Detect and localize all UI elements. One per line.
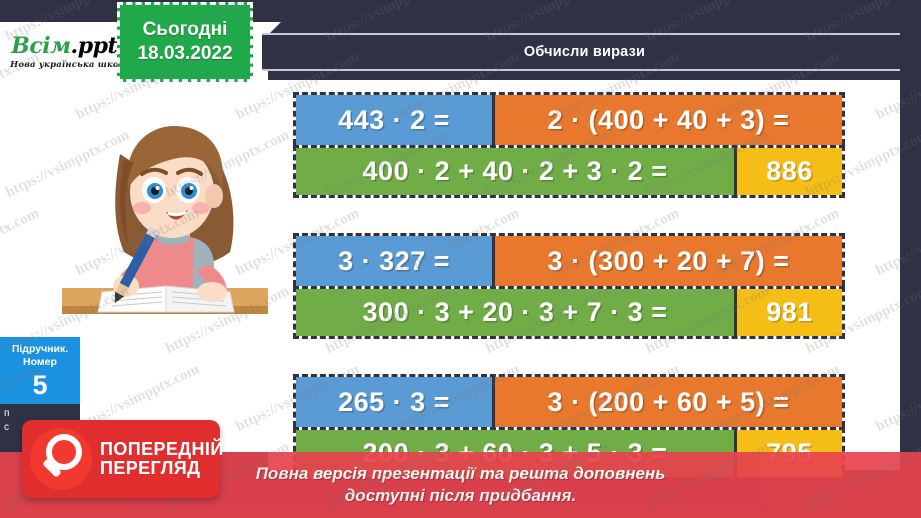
equation-result: 981	[737, 289, 842, 336]
textbook-label-line1: Підручник.	[0, 343, 80, 356]
equation-expanded-expression: 3 · (200 + 60 + 5) =	[495, 377, 842, 427]
equation-result: 886	[737, 148, 842, 195]
logo-subtitle: Нова українська школа	[10, 60, 131, 70]
equation-left-expression: 3 · 327 =	[296, 236, 492, 286]
today-date-badge: Сьогодні 18.03.2022	[117, 2, 253, 82]
equation-expanded-expression: 2 · (400 + 40 + 3) =	[495, 95, 842, 145]
banner-line-2: доступні після придбання.	[345, 485, 576, 507]
equation-row-top: 443 · 2 = 2 · (400 + 40 + 3) =	[293, 92, 845, 145]
equation-row-top: 265 · 3 = 3 · (200 + 60 + 5) =	[293, 374, 845, 427]
brand-logo: Всім.pptx Нова українська школа	[8, 28, 133, 76]
girl-writing-illustration	[62, 96, 282, 321]
right-edge-strip	[900, 0, 921, 518]
preview-line-1: ПОПЕРЕДНІЙ	[100, 440, 224, 459]
today-date: 18.03.2022	[137, 44, 232, 64]
slide-canvas: Всім.pptx Нова українська школа Сьогодні…	[0, 0, 921, 518]
textbook-number-value: 5	[0, 371, 80, 401]
slide-header-bar: Обчисли вирази	[262, 33, 907, 71]
equation-group-2: 3 · 327 = 3 · (300 + 20 + 7) = 300 · 3 +…	[293, 233, 845, 339]
equation-row-bottom: 400 · 2 + 40 · 2 + 3 · 2 = 886	[293, 145, 845, 198]
girl-writing-icon	[62, 96, 282, 321]
magnifier-icon	[30, 428, 92, 490]
equation-sum-expression: 400 · 2 + 40 · 2 + 3 · 2 =	[296, 148, 734, 195]
logo-title-prefix: Всім	[11, 33, 70, 59]
preview-badge: ПОПЕРЕДНІЙ ПЕРЕГЛЯД	[22, 420, 220, 498]
equation-left-expression: 265 · 3 =	[296, 377, 492, 427]
textbook-label-line2: Номер	[0, 356, 80, 369]
equation-group-1: 443 · 2 = 2 · (400 + 40 + 3) = 400 · 2 +…	[293, 92, 845, 198]
equation-expanded-expression: 3 · (300 + 20 + 7) =	[495, 236, 842, 286]
equation-row-top: 3 · 327 = 3 · (300 + 20 + 7) =	[293, 233, 845, 286]
preview-line-2: ПЕРЕГЛЯД	[100, 459, 224, 478]
equation-sum-expression: 300 · 3 + 20 · 3 + 7 · 3 =	[296, 289, 734, 336]
banner-line-1: Повна версія презентації та решта доповн…	[256, 463, 666, 485]
logo-title: Всім.pptx	[11, 35, 129, 57]
note-line-1: п	[4, 407, 76, 421]
equation-left-expression: 443 · 2 =	[296, 95, 492, 145]
today-label: Сьогодні	[143, 20, 228, 40]
page-title: Обчисли вирази	[524, 44, 645, 60]
equation-row-bottom: 300 · 3 + 20 · 3 + 7 · 3 = 981	[293, 286, 845, 339]
preview-badge-text: ПОПЕРЕДНІЙ ПЕРЕГЛЯД	[100, 440, 224, 479]
